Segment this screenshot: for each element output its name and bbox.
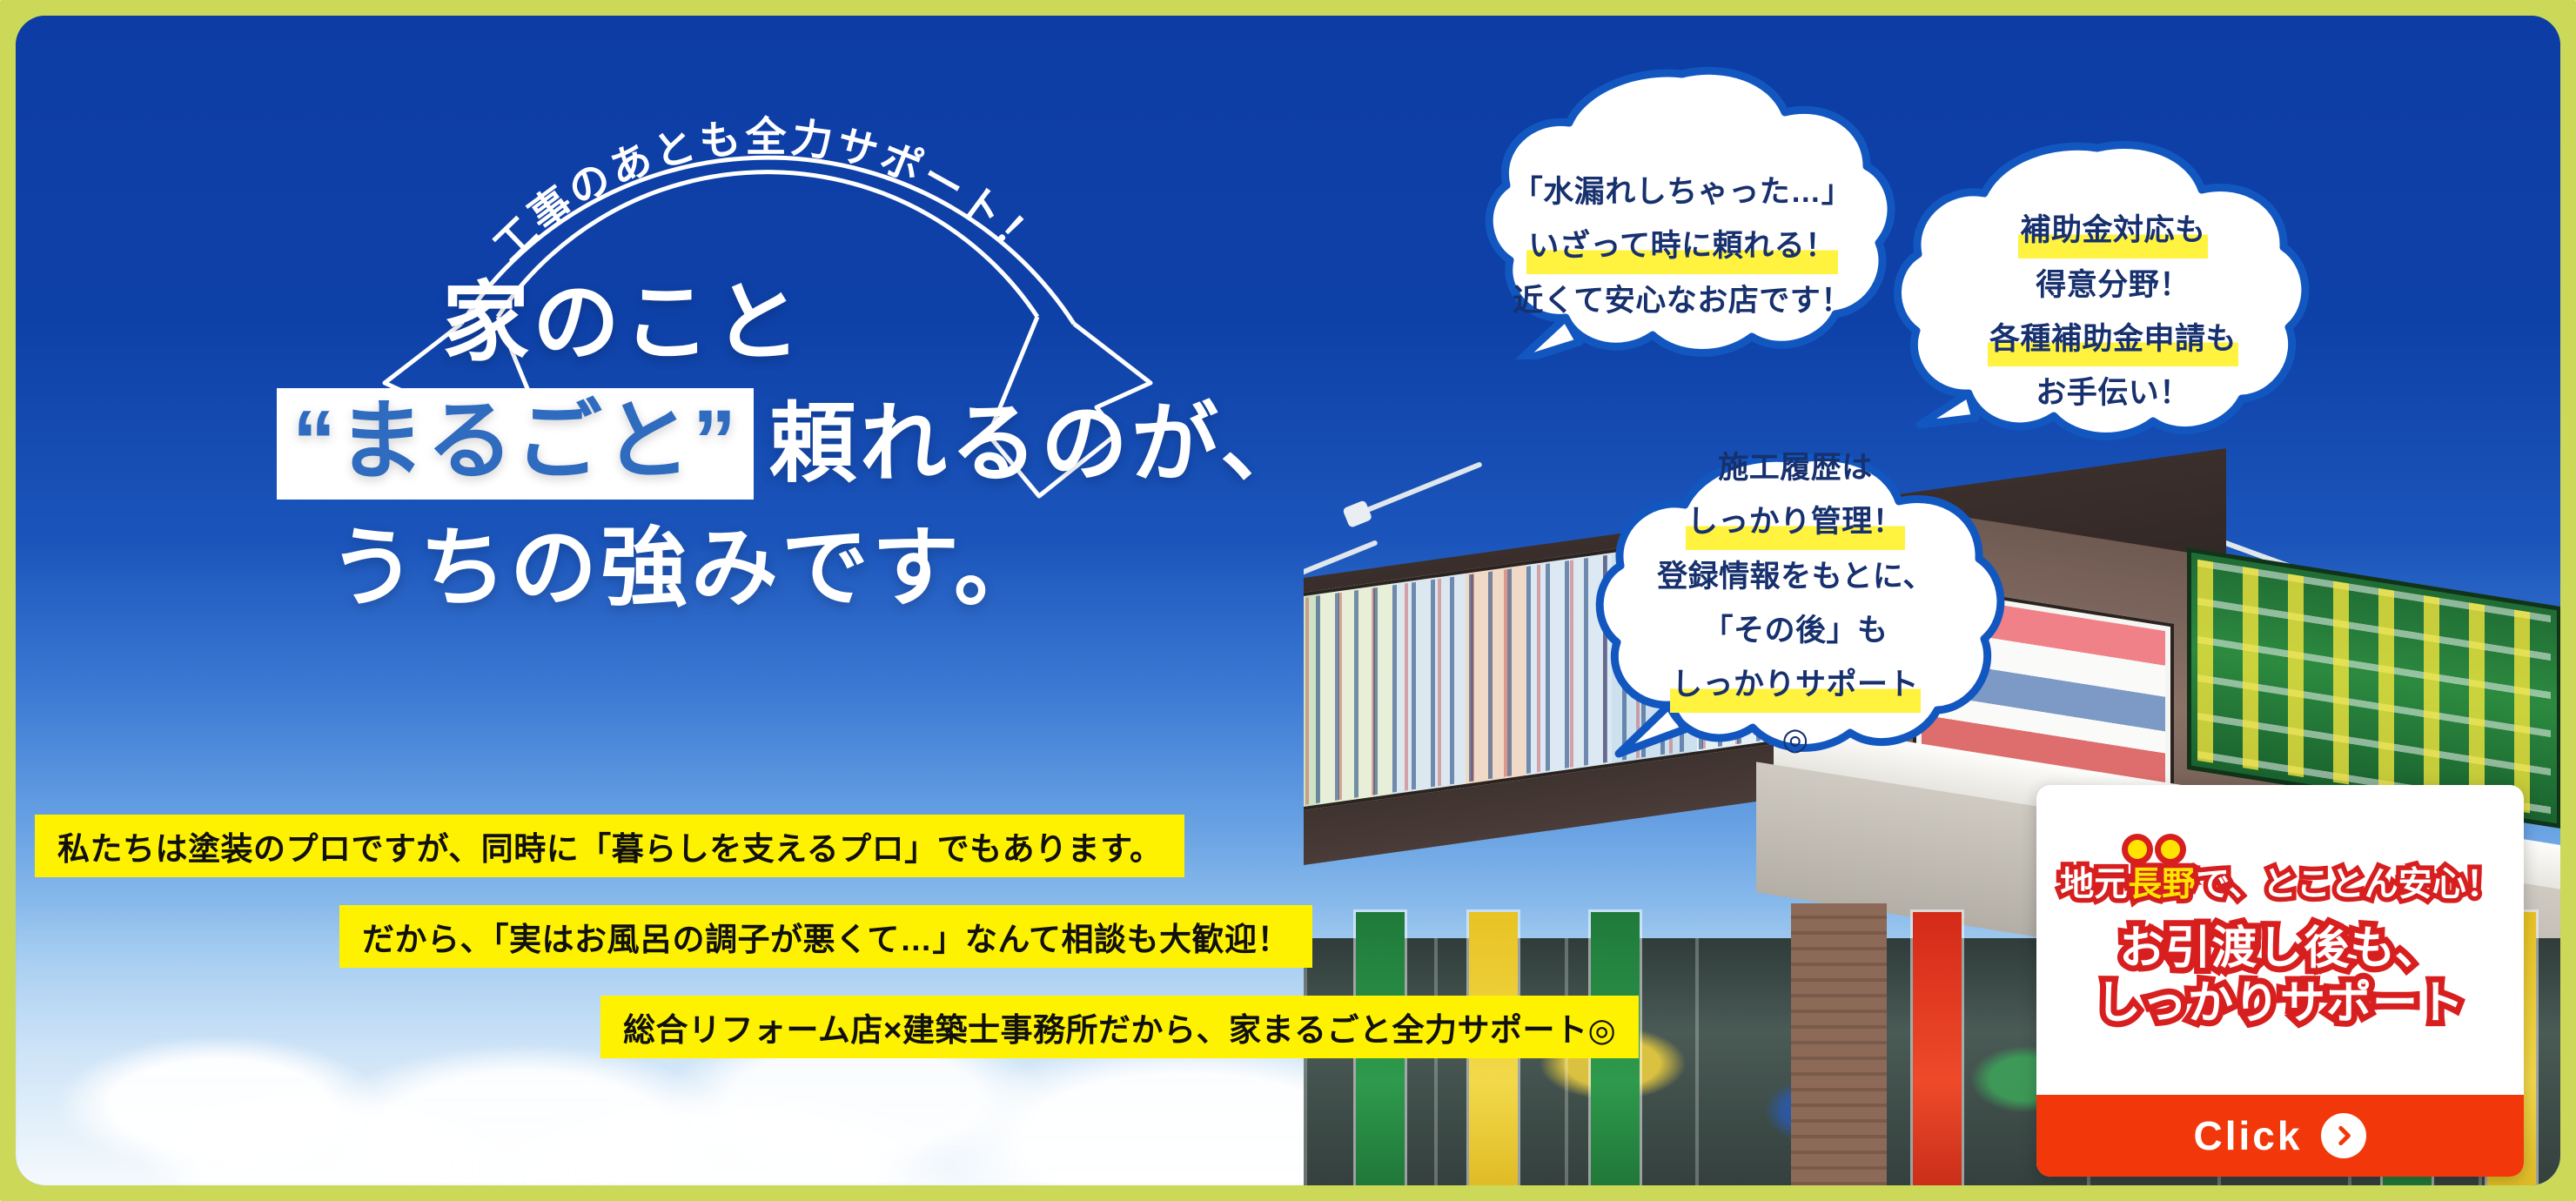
cta-main-text: お引渡し後も、 しっかりサポート <box>2096 922 2465 1032</box>
bubble-3-line-2: 登録情報をもとに、 <box>1657 550 1934 604</box>
cta-kicker-pre: 地元 <box>2060 866 2128 903</box>
bubble-2-line-4: お手伝い！ <box>2036 366 2190 420</box>
cta-main-line-1: お引渡し後も、 <box>2096 922 2465 976</box>
store-pillar <box>1791 903 1887 1185</box>
smiley-dots-icon <box>2128 840 2189 859</box>
headline-line-2: “まるごと” 頼れるのが、 <box>277 388 1426 500</box>
speech-bubble-history: 施工履歴はしっかり管理！ 登録情報をもとに、 「その後」も しっかりサポート◎ <box>1582 451 2009 764</box>
click-button[interactable]: Click <box>2036 1095 2524 1177</box>
tagline-strip-2: だから、「実はお風呂の調子が悪くて…」なんて相談も大歓迎！ <box>339 905 1312 968</box>
click-button-label: Click <box>2194 1112 2303 1159</box>
bubble-1-line-2: いざって時に頼れる！ <box>1526 219 1837 273</box>
bubble-3-line-3: 「その後」も <box>1702 604 1888 658</box>
bubble-2-text: 補助金対応も 得意分野！ 各種補助金申請も お手伝い！ <box>1878 138 2313 451</box>
bubble-1-line-1: 「水漏れしちゃった…」 <box>1513 165 1853 219</box>
cta-body: 地元長野で、とことん安心！ お引渡し後も、 しっかりサポート <box>2036 785 2524 1095</box>
headline-line-3: うちの強みです。 <box>329 522 1426 614</box>
chevron-right-icon <box>2321 1113 2366 1158</box>
bubble-1-line-3: 近くて安心なお店です！ <box>1513 274 1851 328</box>
bubble-3-line-1: 施工履歴はしっかり管理！ <box>1686 441 1906 550</box>
speech-bubble-leak: 「水漏れしちゃった…」 いざって時に頼れる！ 近くて安心なお店です！ <box>1465 64 1900 359</box>
bubble-1-text: 「水漏れしちゃった…」 いざって時に頼れる！ 近くて安心なお店です！ <box>1465 64 1900 359</box>
tagline-strip-3: 総合リフォーム店×建築士事務所だから、家まるごと全力サポート◎ <box>600 996 1639 1058</box>
speech-bubble-subsidy: 補助金対応も 得意分野！ 各種補助金申請も お手伝い！ <box>1878 138 2313 451</box>
bubble-2-line-1: 補助金対応も <box>2018 204 2207 258</box>
cta-kicker: 地元長野で、とことん安心！ <box>2060 857 2499 906</box>
cta-kicker-post: で、とことん安心！ <box>2196 866 2499 903</box>
banner-stage: 工事のあとも全力サポート！ 家のこと “まるごと” 頼れるのが、 うちの強みです… <box>16 16 2560 1185</box>
cta-kicker-highlight: 長野 <box>2128 866 2196 903</box>
headline-line-1: 家のこと <box>442 277 1426 369</box>
bubble-3-line-4: しっかりサポート◎ <box>1670 658 1921 767</box>
headline-emphasis-box: “まるごと” <box>277 388 754 500</box>
bubble-3-text: 施工履歴はしっかり管理！ 登録情報をもとに、 「その後」も しっかりサポート◎ <box>1582 451 2009 764</box>
tagline-strip-1: 私たちは塗装のプロですが、同時に「暮らしを支えるプロ」でもあります。 <box>35 815 1184 877</box>
headline-line-2-rest: 頼れるのが、 <box>769 398 1311 490</box>
bubble-2-line-2: 得意分野！ <box>2036 258 2190 312</box>
cta-card[interactable]: 地元長野で、とことん安心！ お引渡し後も、 しっかりサポート Click <box>2036 785 2524 1177</box>
headline-block: 家のこと “まるごと” 頼れるのが、 うちの強みです。 <box>277 277 1426 614</box>
promo-banner: 工事のあとも全力サポート！ 家のこと “まるごと” 頼れるのが、 うちの強みです… <box>0 0 2576 1201</box>
cta-main-line-2: しっかりサポート <box>2096 976 2465 1031</box>
bubble-2-line-3: 各種補助金申請も <box>1988 312 2238 366</box>
store-flag <box>1913 912 1962 1185</box>
